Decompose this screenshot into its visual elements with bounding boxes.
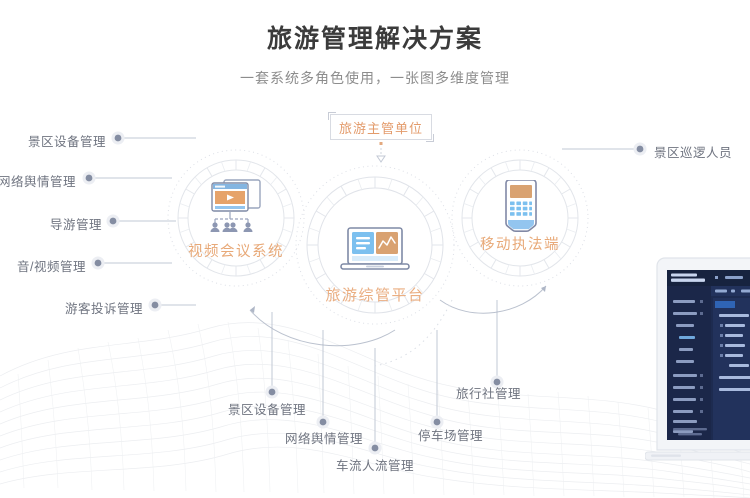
ring-label-video-conference: 视频会议系统: [166, 240, 306, 261]
node-label-bottom-0[interactable]: 景区设备管理: [228, 399, 306, 418]
node-dots-right: [634, 143, 647, 156]
node-label-left-0[interactable]: 景区设备管理: [0, 131, 106, 150]
node-label-bottom-1[interactable]: 网络舆情管理: [285, 428, 363, 447]
ring-label-mobile-enforcement: 移动执法端: [450, 233, 590, 254]
handheld-terminal-icon: [500, 180, 542, 236]
laptop-dashboard-icon: [338, 226, 412, 276]
page-header: 旅游管理解决方案 一套系统多角色使用，一张图多维度管理: [0, 22, 750, 88]
node-label-left-1[interactable]: 网络舆情管理: [0, 171, 76, 190]
node-label-bottom-2[interactable]: 车流人流管理: [336, 455, 414, 474]
node-label-left-3[interactable]: 音/视频管理: [0, 256, 86, 275]
node-label-left-2[interactable]: 导游管理: [0, 214, 102, 233]
dotted-down-arrow-icon: [374, 142, 388, 164]
node-label-right-0[interactable]: 景区巡逻人员: [654, 142, 732, 161]
node-label-bottom-3[interactable]: 停车场管理: [418, 425, 483, 444]
ring-label-tourism-platform: 旅游综管平台: [294, 284, 456, 305]
laptop-dashboard-mockup: [645, 256, 750, 498]
authority-badge-label: 旅游主管单位: [339, 118, 423, 137]
node-label-left-4[interactable]: 游客投诉管理: [27, 298, 143, 317]
page-subtitle: 一套系统多角色使用，一张图多维度管理: [0, 68, 750, 88]
authority-badge: 旅游主管单位: [330, 114, 432, 140]
video-window-icon: [204, 178, 268, 234]
page-title: 旅游管理解决方案: [0, 22, 750, 56]
node-label-bottom-4[interactable]: 旅行社管理: [456, 383, 521, 402]
solution-diagram-page: 旅游管理解决方案 一套系统多角色使用，一张图多维度管理: [0, 0, 750, 498]
